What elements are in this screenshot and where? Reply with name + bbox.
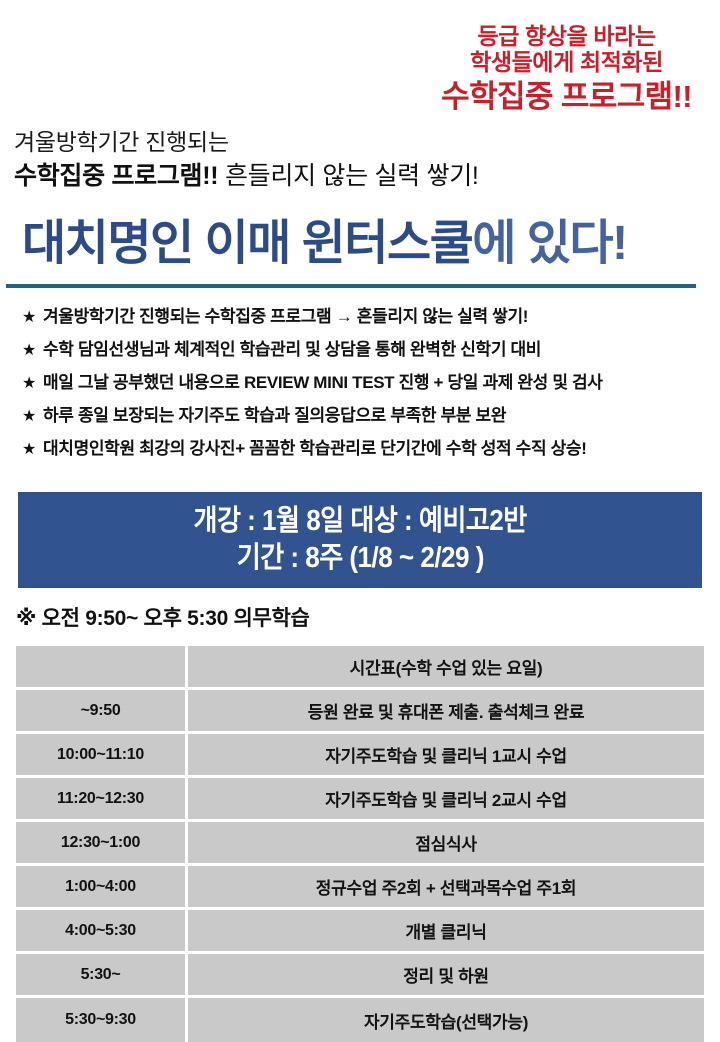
table-cell-desc: 자기주도학습 및 클리닉 2교시 수업	[188, 778, 704, 822]
table-cell-time: ~9:50	[16, 690, 188, 734]
table-cell-desc: 정리 및 하원	[188, 954, 704, 998]
star-icon: ★	[22, 310, 36, 326]
red-header-line3: 수학집중 프로그램!!	[441, 80, 692, 115]
table-row: ~9:50 등원 완료 및 휴대폰 제출. 출석체크 완료	[16, 690, 704, 734]
star-icon: ★	[22, 376, 36, 392]
table-row: 11:20~12:30 자기주도학습 및 클리닉 2교시 수업	[16, 778, 704, 822]
table-cell-desc: 등원 완료 및 휴대폰 제출. 출석체크 완료	[188, 690, 704, 734]
table-cell-desc: 개별 클리닉	[188, 910, 704, 954]
table-row: 5:30~9:30 자기주도학습(선택가능)	[16, 998, 704, 1042]
table-row: 5:30~ 정리 및 하원	[16, 954, 704, 998]
list-item: ★ 매일 그날 공부했던 내용으로 REVIEW MINI TEST 진행 + …	[22, 374, 712, 392]
page-title-bold: 대치명인 이매 윈터스쿨	[22, 217, 472, 270]
feature-bullet-list: ★ 겨울방학기간 진행되는 수학집중 프로그램 → 흔들리지 않는 실력 쌓기!…	[22, 308, 712, 473]
headline-block: 겨울방학기간 진행되는 수학집중 프로그램!! 흔들리지 않는 실력 쌓기!	[14, 128, 479, 192]
red-header-block: 등급 향상을 바라는 학생들에게 최적화된 수학집중 프로그램!!	[441, 24, 692, 114]
table-cell-time: 10:00~11:10	[16, 734, 188, 778]
table-row: 10:00~11:10 자기주도학습 및 클리닉 1교시 수업	[16, 734, 704, 778]
table-row: 4:00~5:30 개별 클리닉	[16, 910, 704, 954]
headline-line1: 겨울방학기간 진행되는	[14, 128, 479, 157]
list-item-label: 대치명인학원 최강의 강사진+ 꼼꼼한 학습관리로 단기간에 수학 성적 수직 …	[43, 440, 587, 457]
headline-line2-bold: 수학집중 프로그램!!	[14, 162, 218, 190]
table-cell-desc: 점심식사	[188, 822, 704, 866]
list-item: ★ 수학 담임선생님과 체계적인 학습관리 및 상담을 통해 완벽한 신학기 대…	[22, 341, 712, 359]
table-header-desc: 시간표(수학 수업 있는 요일)	[188, 646, 704, 690]
table-row: 1:00~4:00 정규수업 주2회 + 선택과목수업 주1회	[16, 866, 704, 910]
headline-line2-light: 흔들리지 않는 실력 쌓기!	[225, 162, 479, 190]
table-cell-time: 11:20~12:30	[16, 778, 188, 822]
list-item-label: 하루 종일 보장되는 자기주도 학습과 질의응답으로 부족한 부분 보완	[43, 407, 506, 424]
table-cell-time: 5:30~9:30	[16, 998, 188, 1042]
page-title: 대치명인 이매 윈터스쿨에 있다!	[22, 218, 627, 271]
enrollment-info-box: 개강 : 1월 8일 대상 : 예비고2반 기간 : 8주 (1/8 ~ 2/2…	[18, 492, 702, 588]
red-header-line1: 등급 향상을 바라는	[441, 24, 692, 50]
table-cell-desc: 정규수업 주2회 + 선택과목수업 주1회	[188, 866, 704, 910]
list-item-label: 수학 담임선생님과 체계적인 학습관리 및 상담을 통해 완벽한 신학기 대비	[43, 341, 541, 358]
table-cell-desc: 자기주도학습(선택가능)	[188, 998, 704, 1042]
list-item: ★ 하루 종일 보장되는 자기주도 학습과 질의응답으로 부족한 부분 보완	[22, 407, 712, 425]
horizontal-divider	[6, 284, 696, 288]
table-header-time	[16, 646, 188, 690]
schedule-table: 시간표(수학 수업 있는 요일) ~9:50 등원 완료 및 휴대폰 제출. 출…	[16, 646, 704, 1042]
table-row: 12:30~1:00 점심식사	[16, 822, 704, 866]
list-item-label: 매일 그날 공부했던 내용으로 REVIEW MINI TEST 진행 + 당일…	[43, 374, 603, 391]
table-cell-desc: 자기주도학습 및 클리닉 1교시 수업	[188, 734, 704, 778]
table-cell-time: 12:30~1:00	[16, 822, 188, 866]
list-item: ★ 대치명인학원 최강의 강사진+ 꼼꼼한 학습관리로 단기간에 수학 성적 수…	[22, 440, 712, 458]
red-header-line2: 학생들에게 최적화된	[441, 50, 692, 76]
schedule-table-wrapper: 시간표(수학 수업 있는 요일) ~9:50 등원 완료 및 휴대폰 제출. 출…	[16, 646, 704, 1042]
page-title-thin: 에 있다!	[472, 217, 626, 270]
list-item: ★ 겨울방학기간 진행되는 수학집중 프로그램 → 흔들리지 않는 실력 쌓기!	[22, 308, 712, 326]
star-icon: ★	[22, 442, 36, 458]
table-cell-time: 5:30~	[16, 954, 188, 998]
list-item-label: 겨울방학기간 진행되는 수학집중 프로그램 → 흔들리지 않는 실력 쌓기!	[43, 308, 528, 325]
headline-line2: 수학집중 프로그램!! 흔들리지 않는 실력 쌓기!	[14, 160, 479, 192]
table-cell-time: 4:00~5:30	[16, 910, 188, 954]
mandatory-study-note: ※ 오전 9:50~ 오후 5:30 의무학습	[16, 602, 310, 632]
star-icon: ★	[22, 343, 36, 359]
table-header-row: 시간표(수학 수업 있는 요일)	[16, 646, 704, 690]
star-icon: ★	[22, 409, 36, 425]
enrollment-info-line2: 기간 : 8주 (1/8 ~ 2/29 )	[236, 540, 483, 577]
enrollment-info-line1: 개강 : 1월 8일 대상 : 예비고2반	[193, 503, 526, 540]
table-cell-time: 1:00~4:00	[16, 866, 188, 910]
poster-root: 등급 향상을 바라는 학생들에게 최적화된 수학집중 프로그램!! 겨울방학기간…	[0, 0, 720, 1040]
